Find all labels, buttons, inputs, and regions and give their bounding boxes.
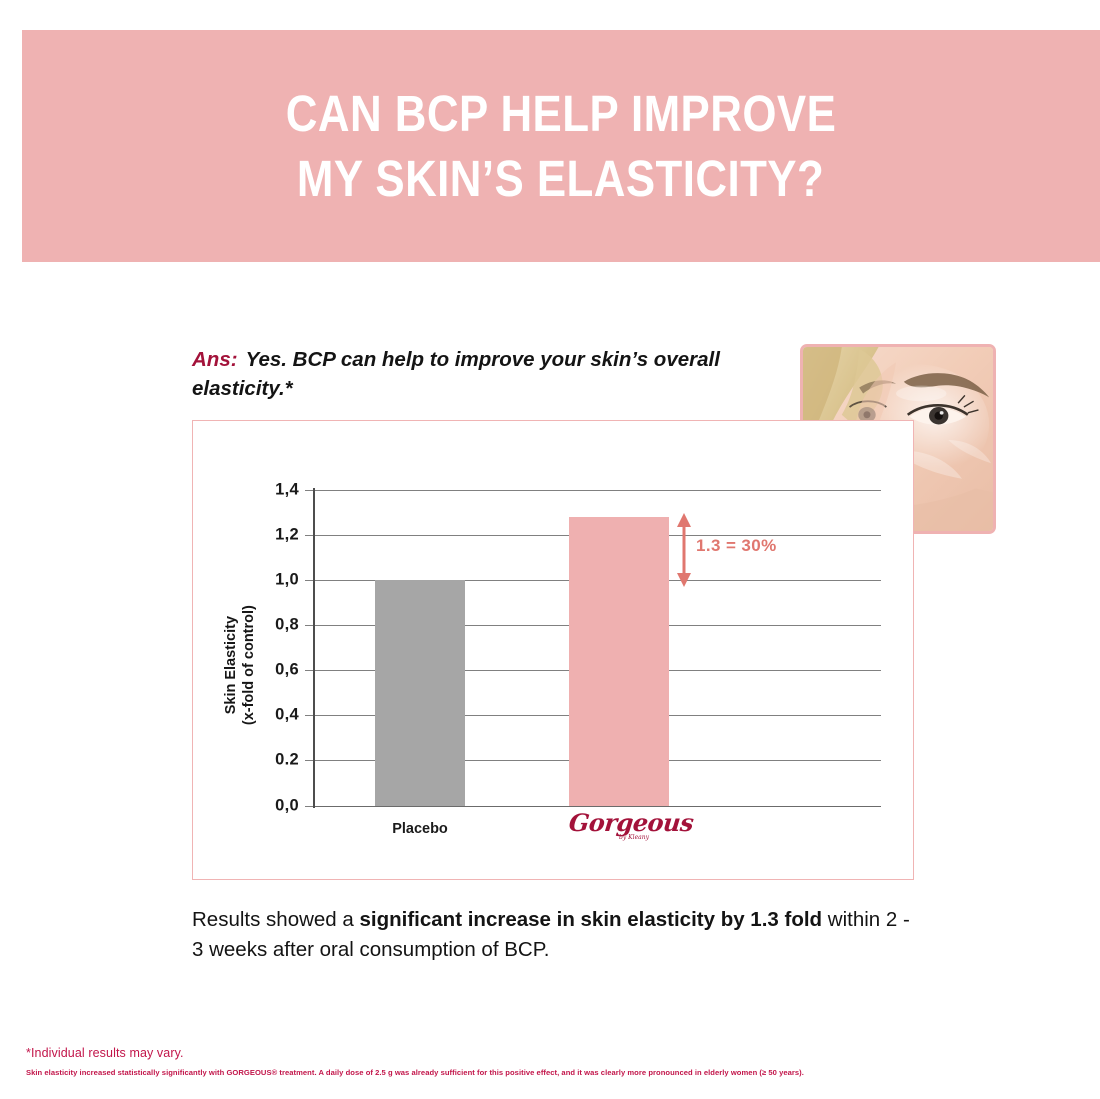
footnote-disclaimer: *Individual results may vary. [26, 1046, 184, 1060]
y-tick-mark-1.0 [305, 580, 313, 581]
y-axis-title: Skin Elasticity (x-fold of control) [222, 560, 258, 770]
answer-text-line2: elasticity.* [192, 374, 782, 403]
header-title-line1: CAN BCP HELP IMPROVE [286, 81, 836, 146]
y-tick-0.0: 0,0 [229, 797, 299, 816]
y-tick-mark-1.4 [305, 490, 313, 491]
header-banner: CAN BCP HELP IMPROVE MY SKIN’S ELASTICIT… [22, 30, 1100, 262]
chart-panel: 1,4 1,2 1,0 0,8 0,6 0,4 0.2 0,0 Skin Ela… [192, 420, 914, 880]
increase-annotation-label: 1.3 = 30% [696, 536, 777, 556]
y-axis-title-line1: Skin Elasticity [222, 560, 240, 770]
footnote-study-detail: Skin elasticity increased statistically … [26, 1068, 804, 1077]
answer-text-line1: Yes. BCP can help to improve your skin’s… [246, 345, 782, 374]
y-tick-mark-1.2 [305, 535, 313, 536]
y-tick-1.2: 1,2 [229, 526, 299, 545]
y-tick-mark-0.8 [305, 625, 313, 626]
increase-arrow-icon [676, 513, 692, 587]
gridline-1.4 [313, 490, 881, 491]
y-tick-mark-0.0 [305, 806, 313, 807]
header-title-line2: MY SKIN’S ELASTICITY? [297, 146, 824, 211]
infographic-page: CAN BCP HELP IMPROVE MY SKIN’S ELASTICIT… [0, 0, 1100, 1099]
x-label-gorgeous-logo: Gorgeous by Kleany [569, 811, 669, 841]
chart-plot-area: 1,4 1,2 1,0 0,8 0,6 0,4 0.2 0,0 Skin Ela… [193, 421, 915, 881]
y-tick-mark-0.6 [305, 670, 313, 671]
y-axis-title-line2: (x-fold of control) [240, 560, 258, 770]
gorgeous-logo-text: Gorgeous [568, 811, 695, 835]
answer-block: Ans: Yes. BCP can help to improve your s… [192, 345, 782, 403]
results-text-part1: Results showed a [192, 908, 360, 931]
bar-gorgeous [569, 517, 669, 806]
answer-label: Ans: [192, 345, 238, 374]
bar-placebo [375, 580, 465, 806]
y-tick-mark-0.4 [305, 715, 313, 716]
results-text-bold: significant increase in skin elasticity … [360, 908, 823, 931]
x-label-placebo: Placebo [360, 821, 480, 837]
y-tick-mark-0.2 [305, 760, 313, 761]
answer-first-line: Ans: Yes. BCP can help to improve your s… [192, 345, 782, 374]
results-paragraph: Results showed a significant increase in… [192, 905, 922, 964]
y-tick-1.4: 1,4 [229, 481, 299, 500]
y-axis-line [313, 488, 315, 808]
